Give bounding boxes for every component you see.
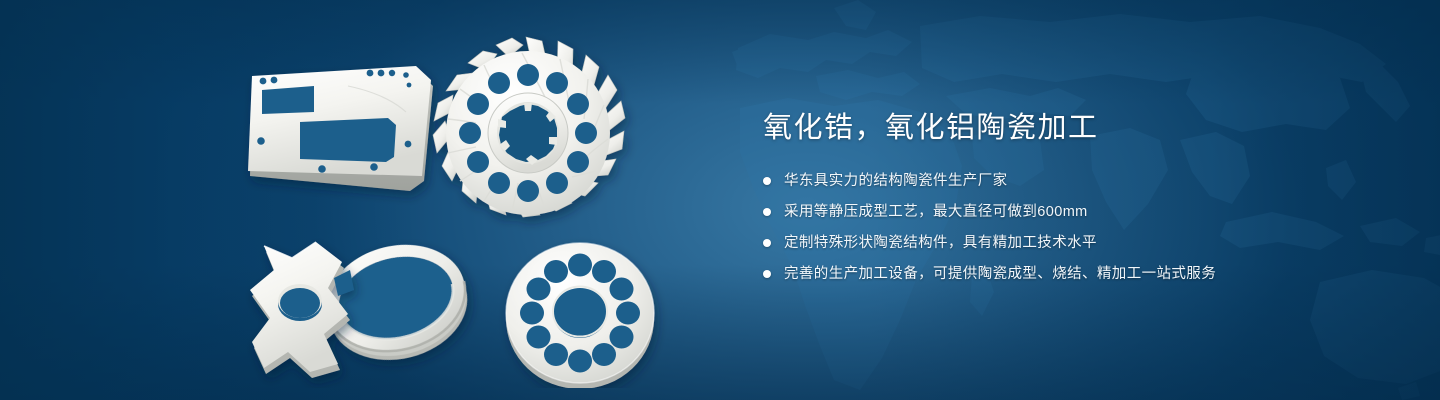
ceramic-cross-part	[250, 242, 354, 378]
bullet-dot-icon	[763, 270, 771, 278]
ceramic-ring-part	[315, 231, 478, 375]
banner-copy: 氧化锆，氧化铝陶瓷加工 华东具实力的结构陶瓷件生产厂家 采用等静压成型工艺，最大…	[763, 108, 1383, 294]
bullet-dot-icon	[763, 239, 771, 247]
list-item: 完善的生产加工设备，可提供陶瓷成型、烧结、精加工一站式服务	[763, 263, 1383, 285]
feature-label: 完善的生产加工设备，可提供陶瓷成型、烧结、精加工一站式服务	[784, 263, 1216, 285]
list-item: 采用等静压成型工艺，最大直径可做到600mm	[763, 201, 1383, 223]
ceramic-perforated-disc	[506, 243, 654, 388]
ceramic-plate-part	[248, 66, 433, 191]
feature-label: 采用等静压成型工艺，最大直径可做到600mm	[784, 201, 1088, 223]
feature-label: 定制特殊形状陶瓷结构件，具有精加工技术水平	[784, 232, 1097, 254]
ceramic-impeller-part	[433, 37, 625, 217]
list-item: 华东具实力的结构陶瓷件生产厂家	[763, 170, 1383, 192]
bullet-dot-icon	[763, 208, 771, 216]
hero-banner: 氧化锆，氧化铝陶瓷加工 华东具实力的结构陶瓷件生产厂家 采用等静压成型工艺，最大…	[0, 0, 1440, 400]
list-item: 定制特殊形状陶瓷结构件，具有精加工技术水平	[763, 232, 1383, 254]
feature-label: 华东具实力的结构陶瓷件生产厂家	[784, 170, 1008, 192]
bullet-dot-icon	[763, 177, 771, 185]
page-title: 氧化锆，氧化铝陶瓷加工	[763, 108, 1383, 148]
feature-list: 华东具实力的结构陶瓷件生产厂家 采用等静压成型工艺，最大直径可做到600mm 定…	[763, 170, 1383, 285]
ceramic-products-photo	[228, 28, 698, 388]
